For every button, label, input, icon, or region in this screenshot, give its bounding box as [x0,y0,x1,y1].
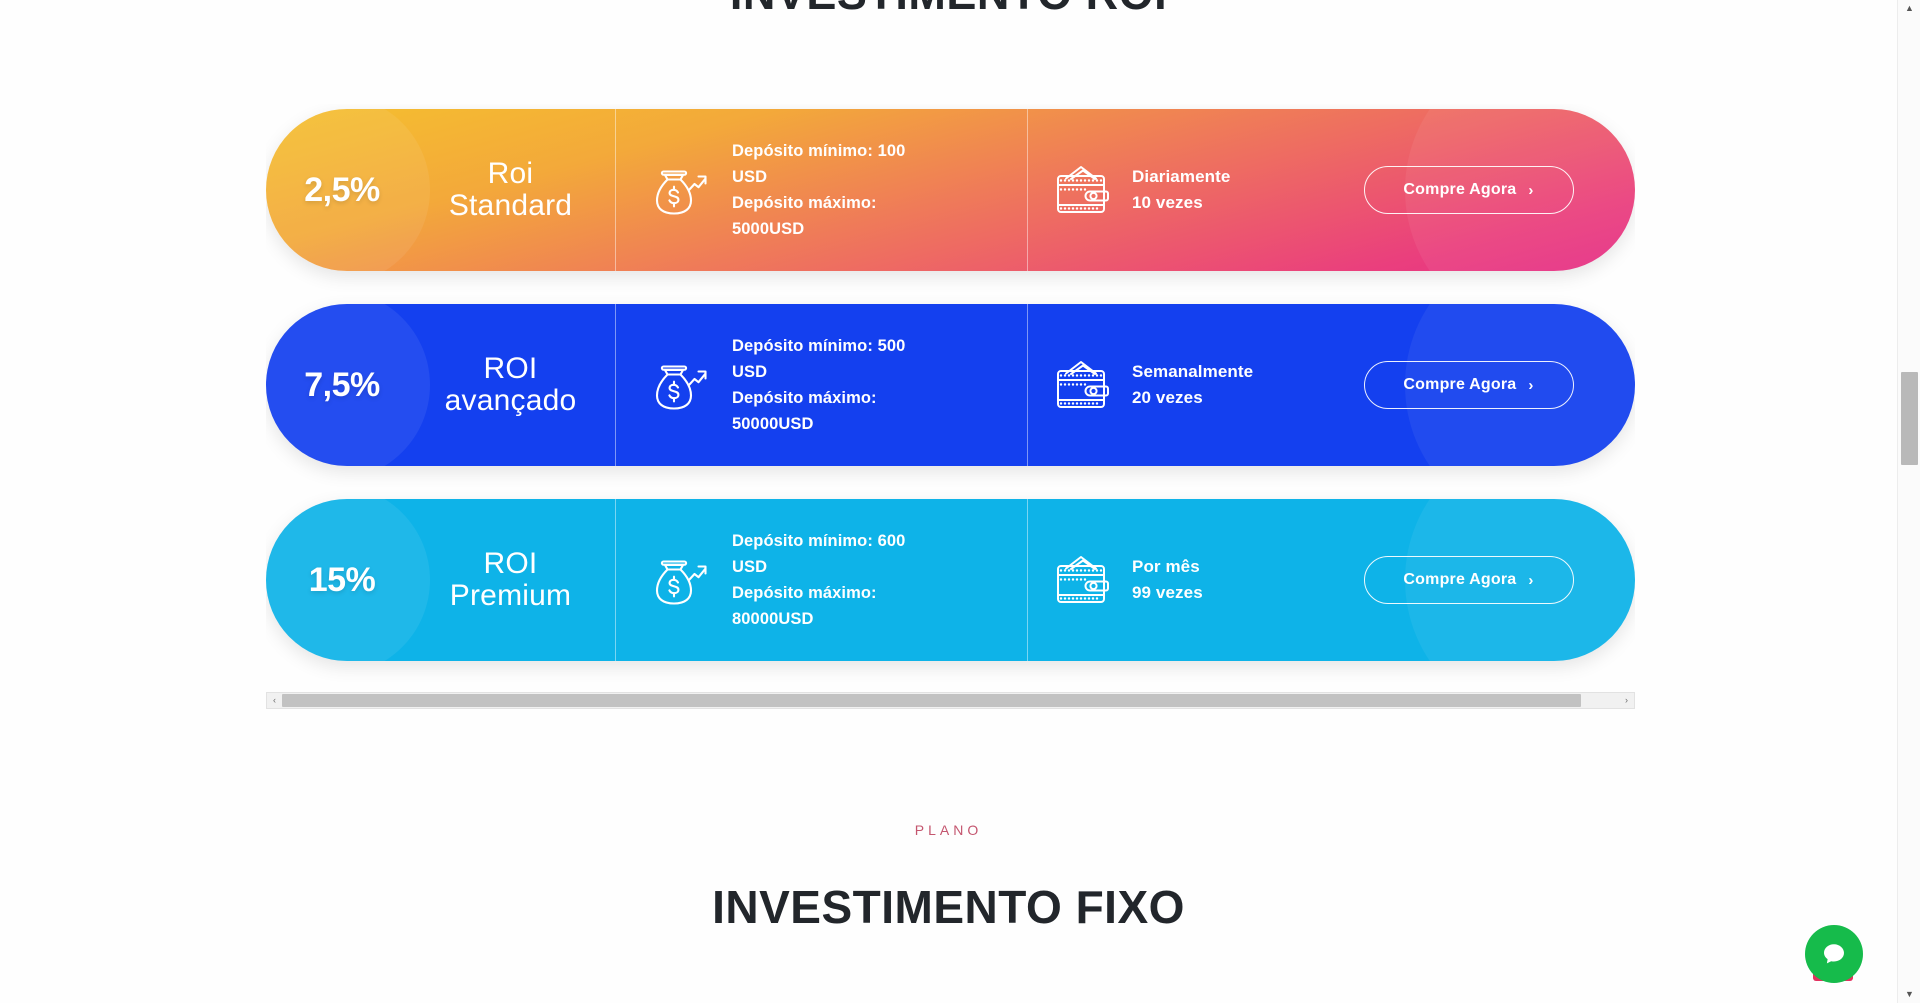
plan-name: ROI avançado [445,353,577,418]
money-bag-growth-icon [652,356,708,414]
plan-rate-cell: 15% [266,499,406,661]
frequency-label: Diariamente [1132,164,1230,190]
money-bag-growth-icon [652,161,708,219]
plan-cta-cell: Compre Agora › [1328,109,1635,271]
plan-name-line1: ROI [445,353,577,385]
frequency-times: 10 vezes [1132,190,1230,216]
plan-frequency-text: Semanalmente 20 vezes [1132,359,1253,412]
plan-card-roi-standard[interactable]: 2,5% Roi Standard [266,109,1635,271]
compre-agora-button[interactable]: Compre Agora › [1364,556,1574,604]
plan-rate-value: 7,5% [304,366,380,405]
plan-name-line1: ROI [450,548,571,580]
scroll-right-arrow-icon[interactable]: › [1619,693,1634,708]
deposit-min-line: Depósito mínimo: 100 [732,138,905,164]
frequency-times: 99 vezes [1132,580,1203,606]
hscroll-track[interactable] [282,694,1619,707]
compre-agora-button[interactable]: Compre Agora › [1364,361,1574,409]
chevron-right-icon: › [1528,573,1533,588]
plan-frequency-cell: Diariamente 10 vezes [1028,109,1328,271]
plan-name-line2: Standard [449,190,572,222]
deposit-max-value: 50000USD [732,411,905,437]
deposit-max-label: Depósito máximo: [732,385,905,411]
chevron-right-icon: › [1528,378,1533,393]
chat-widget-button[interactable] [1805,925,1863,983]
plan-name-line2: avançado [445,385,577,417]
page-root: INVESTIMENTO ROI 2,5% Roi Standard [0,0,1920,1003]
page-viewport: INVESTIMENTO ROI 2,5% Roi Standard [0,0,1897,1003]
frequency-times: 20 vezes [1132,385,1253,411]
scroll-down-arrow-icon[interactable]: ▼ [1898,986,1920,1003]
compre-agora-label: Compre Agora [1403,181,1516,199]
plan-deposit-cell: Depósito mínimo: 500 USD Depósito máximo… [616,304,1028,466]
plan-deposit-text: Depósito mínimo: 600 USD Depósito máximo… [732,528,905,632]
page-title-investimento-fixo: INVESTIMENTO FIXO [0,880,1897,934]
scroll-left-arrow-icon[interactable]: ‹ [267,693,282,708]
plan-frequency-text: Diariamente 10 vezes [1132,164,1230,217]
frequency-label: Semanalmente [1132,359,1253,385]
wallet-icon [1054,164,1112,216]
plan-name: Roi Standard [449,158,572,223]
plan-rate-cell: 7,5% [266,304,406,466]
deposit-min-line: Depósito mínimo: 500 [732,333,905,359]
plan-cta-cell: Compre Agora › [1328,499,1635,661]
plan-deposit-cell: Depósito mínimo: 100 USD Depósito máximo… [616,109,1028,271]
plan-frequency-text: Por mês 99 vezes [1132,554,1203,607]
plan-deposit-text: Depósito mínimo: 500 USD Depósito máximo… [732,333,905,437]
deposit-min-unit: USD [732,359,905,385]
deposit-max-label: Depósito máximo: [732,190,905,216]
wallet-icon [1054,554,1112,606]
deposit-min-line: Depósito mínimo: 600 [732,528,905,554]
chat-bubble-icon[interactable] [1805,925,1863,983]
deposit-min-unit: USD [732,554,905,580]
plan-rate-cell: 2,5% [266,109,406,271]
plan-card-roi-avancado[interactable]: 7,5% ROI avançado [266,304,1635,466]
hscroll-thumb[interactable] [282,694,1581,707]
deposit-max-value: 5000USD [732,216,905,242]
deposit-min-unit: USD [732,164,905,190]
section-eyebrow-plano: PLANO [0,822,1897,838]
money-bag-growth-icon [652,551,708,609]
plan-name-cell: ROI Premium [406,499,616,661]
plan-name-cell: Roi Standard [406,109,616,271]
plan-name-line2: Premium [450,580,571,612]
chevron-right-icon: › [1528,183,1533,198]
page-vertical-scrollbar[interactable]: ▲ ▼ [1897,0,1920,1003]
plan-deposit-cell: Depósito mínimo: 600 USD Depósito máximo… [616,499,1028,661]
plan-deposit-text: Depósito mínimo: 100 USD Depósito máximo… [732,138,905,242]
compre-agora-button[interactable]: Compre Agora › [1364,166,1574,214]
plans-horizontal-scrollbar[interactable]: ‹ › [266,692,1635,709]
plan-name: ROI Premium [450,548,571,613]
page-title-investimento-roi: INVESTIMENTO ROI [0,0,1897,20]
deposit-max-value: 80000USD [732,606,905,632]
wallet-icon [1054,359,1112,411]
deposit-max-label: Depósito máximo: [732,580,905,606]
plan-name-line1: Roi [449,158,572,190]
compre-agora-label: Compre Agora [1403,376,1516,394]
plan-frequency-cell: Semanalmente 20 vezes [1028,304,1328,466]
scroll-up-arrow-icon[interactable]: ▲ [1898,0,1920,17]
plan-rate-value: 15% [309,561,376,600]
plan-frequency-cell: Por mês 99 vezes [1028,499,1328,661]
plans-list: 2,5% Roi Standard [266,104,1635,688]
frequency-label: Por mês [1132,554,1203,580]
plan-cta-cell: Compre Agora › [1328,304,1635,466]
plan-rate-value: 2,5% [304,171,380,210]
compre-agora-label: Compre Agora [1403,571,1516,589]
plans-scroll-container[interactable]: 2,5% Roi Standard [266,104,1635,688]
plan-name-cell: ROI avançado [406,304,616,466]
plan-card-roi-premium[interactable]: 15% ROI Premium [266,499,1635,661]
vscroll-thumb[interactable] [1901,372,1918,465]
